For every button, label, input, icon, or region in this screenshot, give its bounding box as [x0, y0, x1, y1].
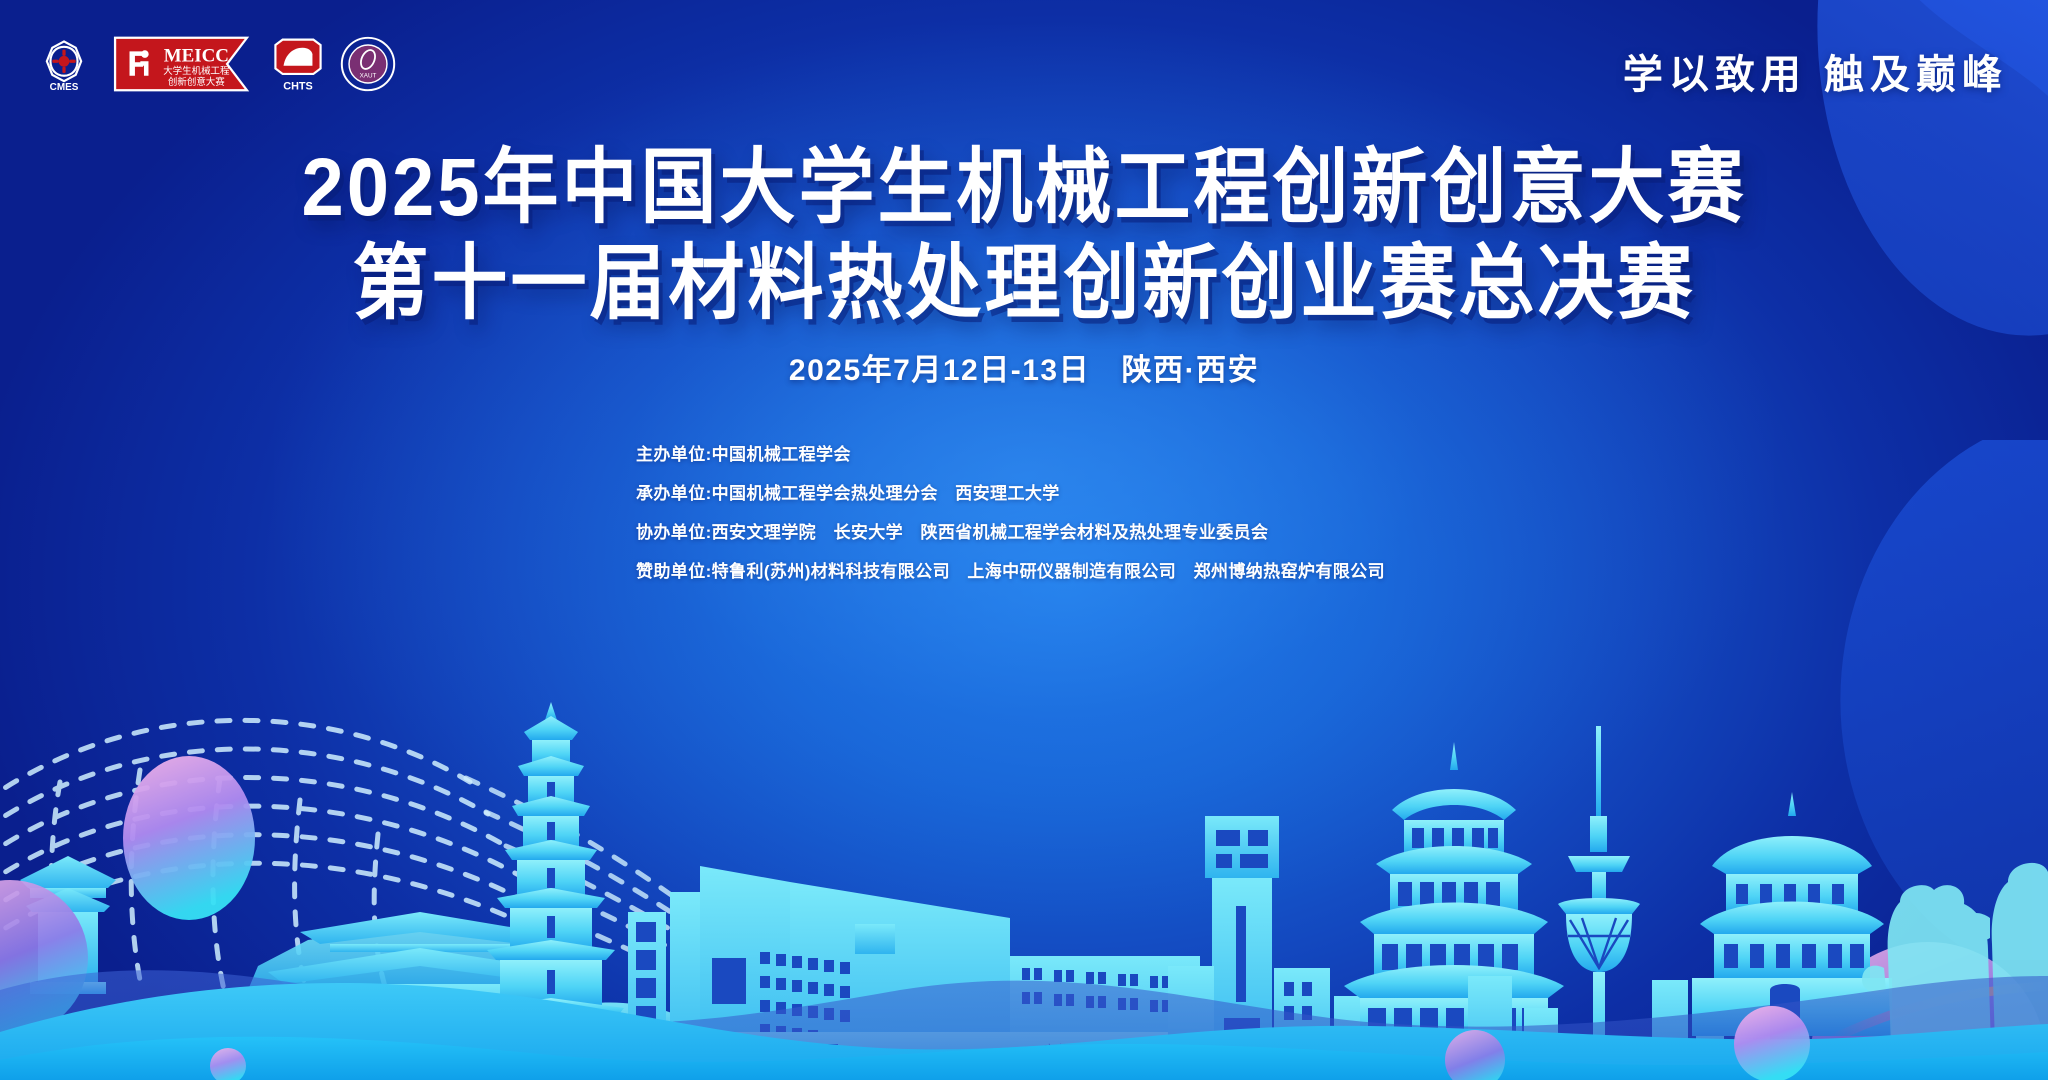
title-block: 2025年中国大学生机械工程创新创意大赛 第十一届材料热处理创新创业赛总决赛 — [0, 140, 2048, 332]
conference-banner: CMES MEICC 大学生机械工程 创新创意大赛 CHTS X — [0, 0, 2048, 1080]
meicc-logo-subline-2: 创新创意大赛 — [168, 76, 225, 88]
meicc-logo-text: MEICC — [164, 45, 229, 66]
cmes-logo-text: CMES — [50, 82, 79, 92]
slogan: 学以致用 触及巅峰 — [1623, 42, 2008, 100]
decor-sphere-front-right — [1734, 1006, 1810, 1080]
xaut-logo-text: XAUT — [360, 73, 377, 80]
meicc-logo-subline-1: 大学生机械工程 — [163, 65, 230, 77]
xaut-logo: XAUT — [340, 36, 396, 92]
date-location: 2025年7月12日-13日 陕西·西安 — [0, 345, 2048, 389]
decor-sphere-left-upper — [123, 756, 255, 920]
main-title-line-2: 第十一届材料热处理创新创业赛总决赛 — [0, 232, 2048, 335]
organizer-row-undertake: 承办单位:中国机械工程学会热处理分会 西安理工大学 — [636, 485, 1385, 502]
chts-logo-text: CHTS — [283, 80, 312, 92]
organizer-row-host: 主办单位:中国机械工程学会 — [636, 446, 1385, 463]
chts-logo: CHTS — [270, 36, 326, 92]
main-title-line-1: 2025年中国大学生机械工程创新创意大赛 — [0, 136, 2048, 239]
logo-bar: CMES MEICC 大学生机械工程 创新创意大赛 CHTS X — [36, 36, 396, 92]
city-skyline: 交大科技馆图书馆 — [0, 520, 2048, 1080]
cmes-logo: CMES — [36, 36, 92, 92]
meicc-logo: MEICC 大学生机械工程 创新创意大赛 — [106, 36, 256, 92]
